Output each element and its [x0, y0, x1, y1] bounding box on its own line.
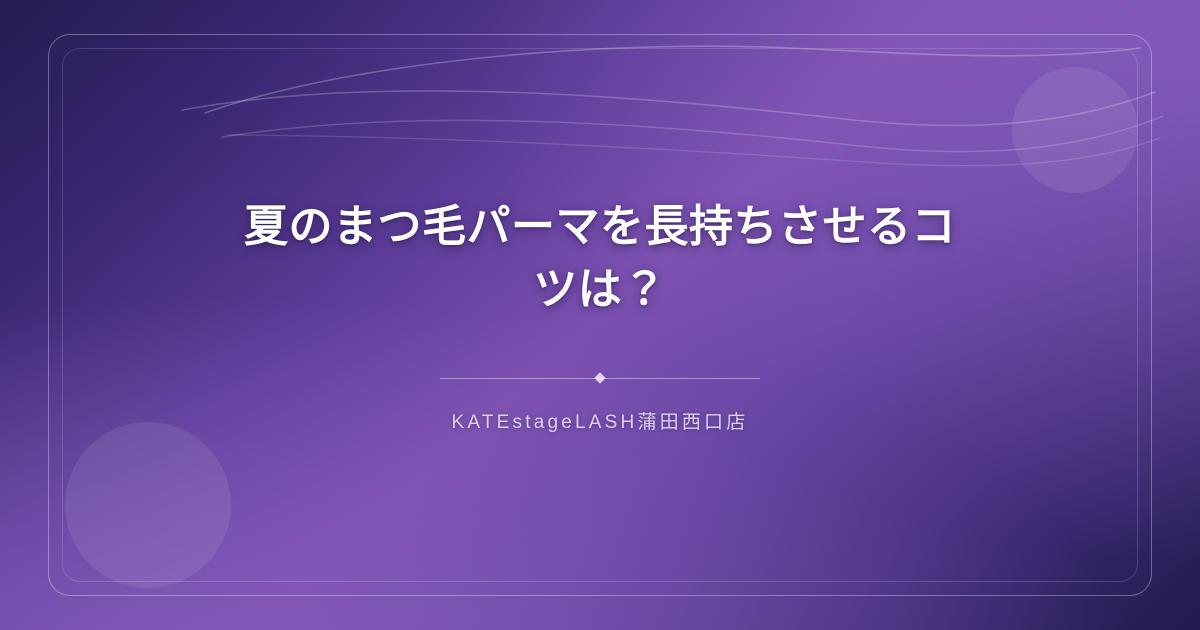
site-name: KATEstageLASH蒲田西口店: [452, 407, 749, 434]
og-image-card: 夏のまつ毛パーマを長持ちさせるコツは？ KATEstageLASH蒲田西口店: [0, 0, 1200, 630]
card-content: 夏のまつ毛パーマを長持ちさせるコツは？ KATEstageLASH蒲田西口店: [0, 0, 1200, 630]
page-title: 夏のまつ毛パーマを長持ちさせるコツは？: [235, 196, 965, 321]
divider: [440, 371, 760, 385]
diamond-icon: [594, 372, 605, 383]
